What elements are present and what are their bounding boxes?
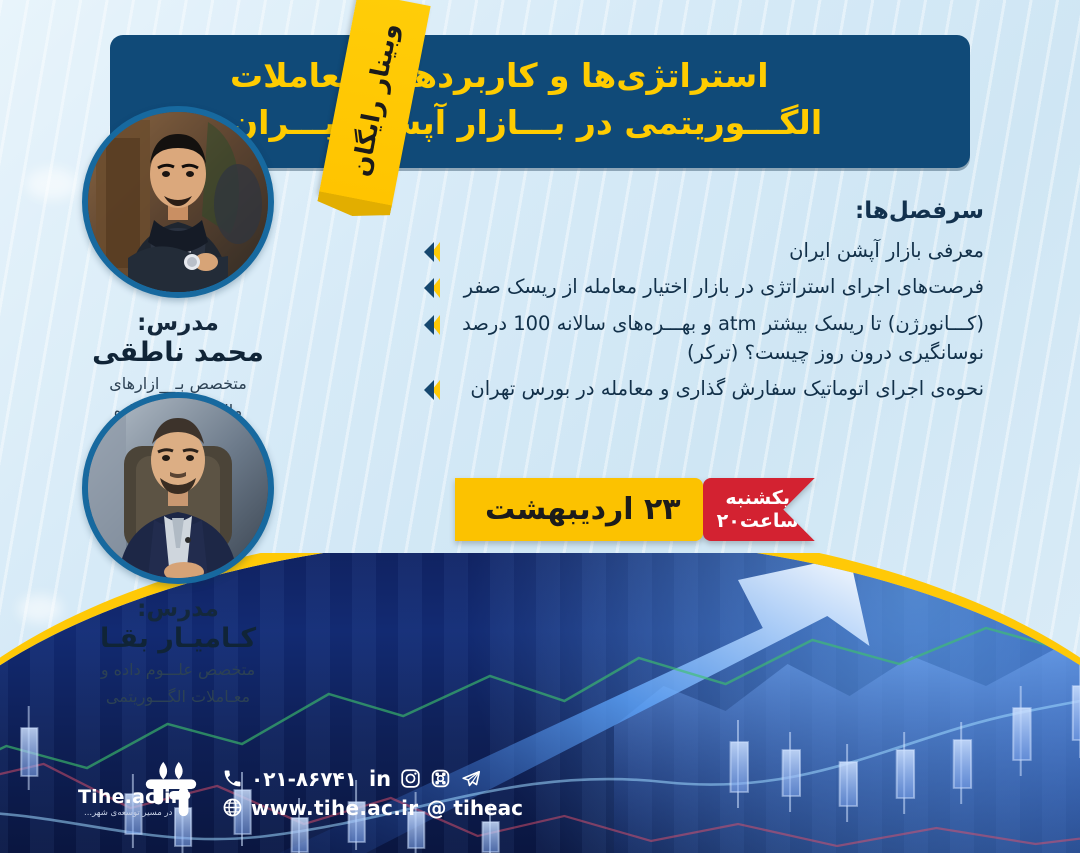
speaker-name-1: محمد ناطقی: [0, 337, 356, 368]
date-day-month: ۲۳ اردیبهشت: [455, 478, 703, 541]
footer-bar: Tihe.ac.ir در مسیر توسعه‌ی شهر... ۰۲۱-۸۶…: [0, 733, 640, 853]
logo-wordmark: Tihe.ac.ir: [78, 786, 180, 808]
topic-label: معرفی بازار آپشن ایران: [450, 236, 984, 265]
website-url[interactable]: www.tihe.ac.ir: [251, 796, 418, 820]
date-weekday: یکشنبه: [725, 487, 790, 509]
topic-item: فرصت‌های اجرای استراتژی در بازار اختیار …: [424, 272, 984, 301]
speaker-photo-1: [82, 106, 274, 298]
social-links: in: [369, 767, 482, 791]
arrow-bullet-icon: [424, 242, 441, 264]
phone-row: ۰۲۱-۸۶۷۴۱ in: [222, 767, 523, 791]
social-handle[interactable]: @ tiheac: [426, 796, 523, 820]
speaker-role-1: مدرس:: [0, 310, 356, 336]
title-line-1: استراتژی‌ها و کاربردهای معاملات: [230, 53, 769, 100]
speaker-role-2: مدرس:: [0, 596, 356, 622]
speaker-portrait: [88, 398, 268, 578]
topic-item: نحوه‌ی اجرای اتوماتیک سفارش گذاری و معام…: [424, 374, 984, 403]
speaker-card-1: مدرس: محمد ناطقی متخصص بـ__ازارهای مالی‌…: [0, 106, 356, 422]
phone-icon: [222, 768, 243, 789]
instagram-icon[interactable]: [400, 768, 421, 789]
portrait-illustration: [88, 398, 268, 578]
aparat-icon[interactable]: [430, 768, 451, 789]
linkedin-icon[interactable]: in: [369, 767, 391, 791]
speaker-name-2: کـامیـار بقـا: [0, 623, 356, 654]
speaker-card-2: مدرس: کـامیـار بقـا متخصص علـــوم داده و…: [0, 392, 356, 708]
phone-number[interactable]: ۰۲۱-۸۶۷۴۱: [251, 767, 357, 791]
poster-canvas: استراتژی‌ها و کاربردهای معاملات الگـــور…: [0, 0, 1080, 853]
arrow-bullet-icon: [424, 315, 441, 337]
portrait-illustration: [88, 112, 268, 292]
speaker-photo-2: [82, 392, 274, 584]
topic-item: معرفی بازار آپشن ایران: [424, 236, 984, 265]
website-row: www.tihe.ac.ir @ tiheac: [222, 796, 523, 820]
speaker-desc-2-line2: معـاملات الگـــوریتمی: [0, 686, 356, 708]
ribbon-label: وبینار رایگان: [346, 21, 404, 179]
topic-label: فرصت‌های اجرای استراتژی در بازار اختیار …: [450, 272, 984, 301]
arrow-bullet-icon: [424, 380, 441, 402]
contact-block: ۰۲۱-۸۶۷۴۱ in: [222, 767, 523, 820]
date-time: ساعت۲۰: [717, 510, 799, 532]
speaker-desc-2-line1: متخصص علـــوم داده و: [0, 659, 356, 681]
topic-label: (کـــانورژن) تا ریسک بیشتر atm و بهـــره…: [450, 309, 984, 368]
speaker-portrait: [88, 112, 268, 292]
globe-icon: [222, 797, 243, 818]
logo-tagline: در مسیر توسعه‌ی شهر...: [84, 808, 172, 818]
telegram-icon[interactable]: [460, 768, 482, 790]
date-badge: ۲۳ اردیبهشت یکشنبه ساعت۲۰: [455, 478, 813, 541]
topics-heading: سرفصل‌ها:: [424, 198, 984, 224]
topic-item: (کـــانورژن) تا ریسک بیشتر atm و بهـــره…: [424, 309, 984, 368]
arrow-bullet-icon: [424, 278, 441, 300]
topic-label: نحوه‌ی اجرای اتوماتیک سفارش گذاری و معام…: [450, 374, 984, 403]
topics-section: سرفصل‌ها: معرفی بازار آپشن ایران فرصت‌ها…: [424, 198, 984, 410]
date-weekday-time: یکشنبه ساعت۲۰: [703, 478, 815, 541]
organization-logo: Tihe.ac.ir در مسیر توسعه‌ی شهر...: [78, 756, 206, 830]
